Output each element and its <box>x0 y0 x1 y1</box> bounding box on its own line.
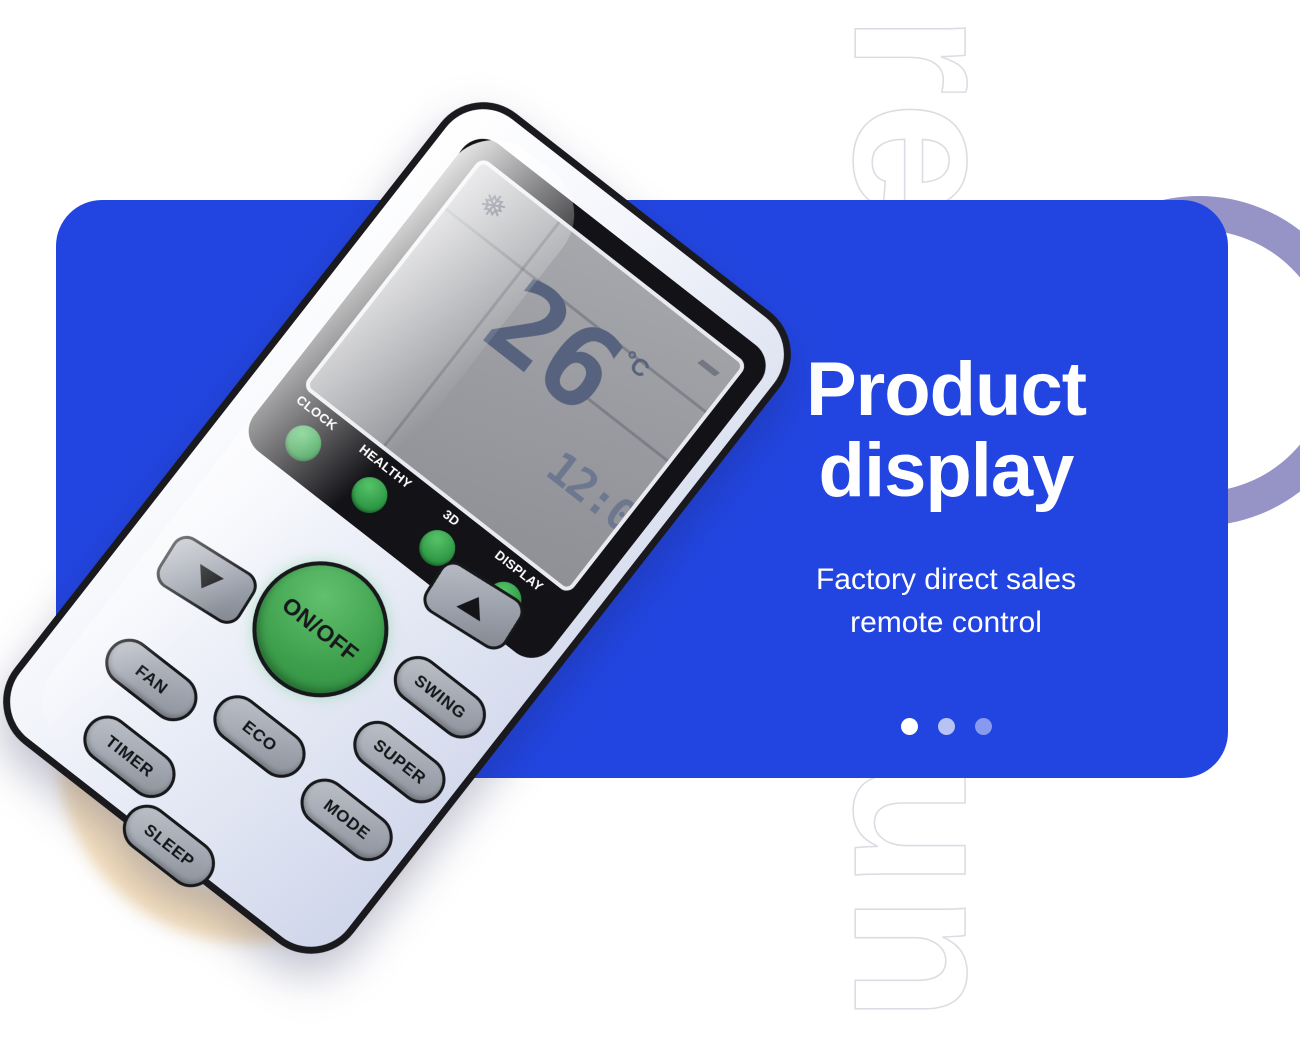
timer-button-label: TIMER <box>101 732 157 782</box>
lcd-temperature-value: 26 <box>467 262 637 430</box>
page-subtitle: Factory direct sales remote control <box>696 559 1196 644</box>
lcd-signal-indicator <box>697 359 720 376</box>
subtitle-line-1: Factory direct sales <box>696 559 1196 602</box>
lcd-divider-clock <box>585 396 675 467</box>
power-button[interactable]: ON/OFF <box>225 534 416 725</box>
super-button-label: SUPER <box>369 735 430 789</box>
mode-button-label: MODE <box>319 796 373 845</box>
chevron-down-icon <box>190 564 224 596</box>
pagination-dot-3[interactable] <box>975 718 992 735</box>
carousel-pagination[interactable] <box>696 718 1196 735</box>
eco-button[interactable]: ECO <box>204 686 316 788</box>
pagination-dot-2[interactable] <box>938 718 955 735</box>
power-button-label: ON/OFF <box>277 591 364 667</box>
eco-button-label: ECO <box>238 717 281 757</box>
product-display-slide: refreshun Product display Factory direct… <box>0 0 1300 1041</box>
pagination-dot-1[interactable] <box>901 718 918 735</box>
swing-button-label: SWING <box>410 671 470 724</box>
headline-line-2: display <box>696 431 1196 512</box>
lcd-clock-value: 12:0 <box>539 445 643 540</box>
mode-button[interactable]: MODE <box>291 769 403 871</box>
arrow-down-button[interactable] <box>151 530 263 630</box>
subtitle-line-2: remote control <box>696 602 1196 645</box>
chevron-up-icon <box>456 590 490 622</box>
fan-button-label: FAN <box>131 661 172 699</box>
snowflake-icon: ❅ <box>473 185 514 227</box>
